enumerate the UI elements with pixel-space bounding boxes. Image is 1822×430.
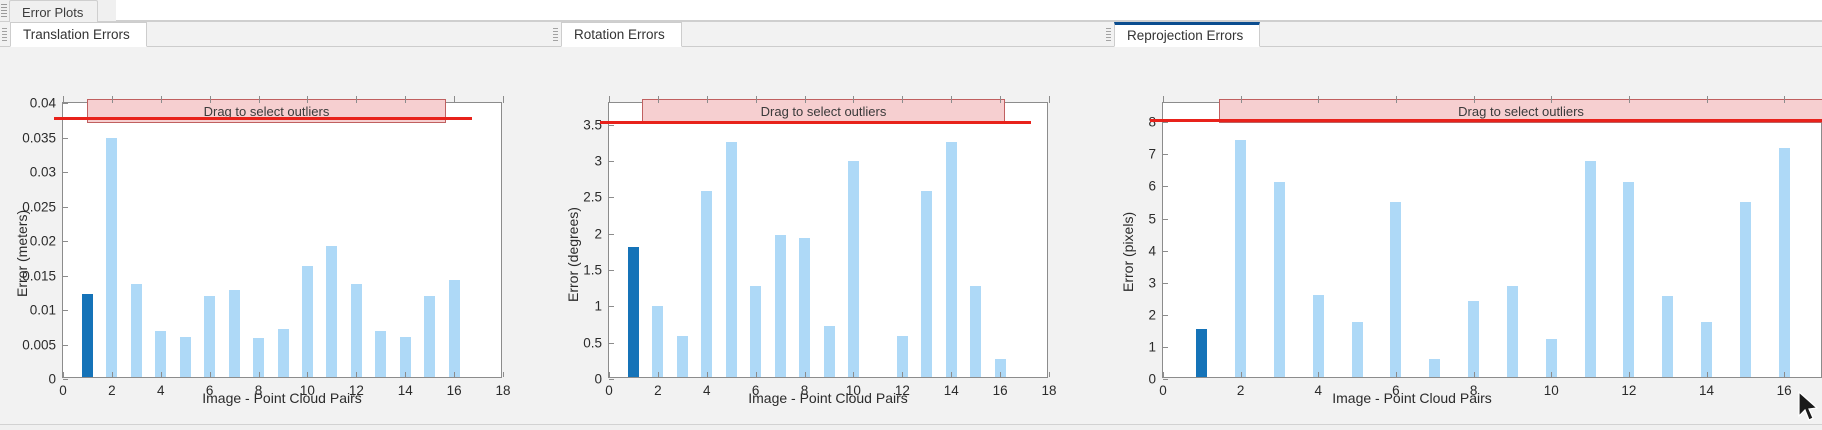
y-axis-tick-mark (1163, 283, 1168, 284)
y-axis-tick-label: 0.01 (30, 303, 56, 318)
bar[interactable] (1352, 322, 1363, 377)
bar[interactable] (400, 337, 411, 377)
y-axis-tick-label: 0.03 (30, 165, 56, 180)
x-axis-tick-mark (112, 372, 113, 377)
chart-reprojection-errors: Error (pixels) 0123456780246810121416Dra… (1104, 47, 1822, 430)
outlier-band-label: Drag to select outliers (1458, 104, 1584, 119)
bar[interactable] (1429, 359, 1440, 377)
y-axis-tick-label: 0.02 (30, 234, 56, 249)
x-axis-label-2: Image - Point Cloud Pairs (608, 390, 1048, 406)
bar[interactable] (652, 306, 663, 377)
y-axis-tick-mark (63, 310, 68, 311)
x-axis-tick-mark (1629, 372, 1630, 377)
bar[interactable] (1390, 202, 1401, 377)
bar[interactable] (970, 286, 981, 377)
panel-reprojection-errors: Reprojection Errors Error (pixels) 01234… (1104, 22, 1822, 430)
x-axis-tick-mark (503, 372, 504, 377)
band-tick-row (63, 96, 503, 103)
bar[interactable] (1779, 148, 1790, 377)
panel-rotation-errors: Rotation Errors Error (degrees) 00.511.5… (551, 22, 1104, 430)
outer-tab-error-plots[interactable]: Error Plots (9, 0, 98, 22)
y-axis-tick-label: 6 (1148, 179, 1156, 194)
chart-rotation-errors: Error (degrees) 00.511.522.533.502468101… (551, 47, 1104, 430)
y-axis-label-2: Error (degrees) (565, 207, 581, 302)
error-plots-window: Error Plots Translation Errors Error (me… (0, 0, 1822, 430)
x-axis-tick-mark (853, 372, 854, 377)
plot-axes-1[interactable]: 00.0050.010.0150.020.0250.030.0350.04024… (62, 102, 502, 378)
outlier-threshold-line[interactable] (54, 117, 472, 120)
x-axis-tick-mark (609, 372, 610, 377)
y-axis-tick-mark (63, 345, 68, 346)
x-axis-tick-mark (1318, 372, 1319, 377)
outer-tab-filler (116, 0, 1822, 21)
x-axis-tick-mark (1707, 372, 1708, 377)
y-axis-tick-mark (63, 241, 68, 242)
y-axis-tick-mark (1163, 251, 1168, 252)
x-axis-tick-mark (1396, 372, 1397, 377)
x-axis-tick-mark (658, 372, 659, 377)
y-axis-tick-mark (1163, 315, 1168, 316)
bar[interactable] (897, 336, 908, 377)
y-axis-tick-label: 0.025 (22, 199, 56, 214)
y-axis-tick-label: 2.5 (583, 190, 602, 205)
bar[interactable] (750, 286, 761, 377)
plot-area-2[interactable] (609, 103, 1047, 377)
y-axis-tick-label: 8 (1148, 115, 1156, 130)
x-axis-tick-mark (1474, 372, 1475, 377)
outlier-threshold-line[interactable] (600, 121, 1031, 124)
bar[interactable] (1740, 202, 1751, 377)
x-axis-tick-mark (405, 372, 406, 377)
panel-grip-icon-2[interactable] (553, 28, 558, 41)
bar[interactable] (155, 331, 166, 377)
bar[interactable] (1623, 182, 1634, 377)
x-axis-tick-mark (1784, 372, 1785, 377)
bar[interactable] (1468, 301, 1479, 377)
tab-reprojection-errors[interactable]: Reprojection Errors (1114, 22, 1260, 47)
tabrow-3: Reprojection Errors (1104, 22, 1822, 47)
bar[interactable] (449, 280, 460, 377)
panel-grip-icon-3[interactable] (1106, 28, 1111, 41)
bar[interactable] (204, 296, 215, 377)
outlier-band-label: Drag to select outliers (761, 104, 887, 119)
band-tick-row (1163, 96, 1822, 103)
bar[interactable] (131, 284, 142, 377)
bar[interactable] (106, 138, 117, 377)
panel-translation-errors: Translation Errors Error (meters) 00.005… (0, 22, 551, 430)
plot-axes-3[interactable]: 0123456780246810121416Drag to select out… (1162, 102, 1822, 378)
outer-tab-bar: Error Plots (0, 0, 1822, 22)
bar[interactable] (1274, 182, 1285, 377)
x-axis-tick-mark (756, 372, 757, 377)
y-axis-tick-mark (609, 161, 614, 162)
x-axis-tick-mark (805, 372, 806, 377)
bar[interactable] (946, 142, 957, 377)
bar[interactable] (375, 331, 386, 377)
y-axis-tick-label: 2 (594, 226, 602, 241)
plot-area-3[interactable] (1163, 103, 1821, 377)
x-axis-tick-mark (210, 372, 211, 377)
bar[interactable] (921, 191, 932, 377)
y-axis-tick-mark (609, 197, 614, 198)
bar[interactable] (229, 290, 240, 377)
tab-rotation-errors[interactable]: Rotation Errors (561, 22, 682, 47)
y-axis-tick-label: 3 (1148, 275, 1156, 290)
bar[interactable] (1585, 161, 1596, 377)
mouse-pointer-icon (1796, 390, 1822, 424)
bar[interactable] (1701, 322, 1712, 377)
bar[interactable] (1507, 286, 1518, 377)
y-axis-tick-mark (609, 234, 614, 235)
plot-axes-2[interactable]: 00.511.522.533.5024681012141618Drag to s… (608, 102, 1048, 378)
y-axis-tick-mark (609, 379, 614, 380)
y-axis-tick-label: 3 (594, 154, 602, 169)
y-axis-tick-mark (609, 125, 614, 126)
tabrow-1: Translation Errors (0, 22, 551, 47)
y-axis-tick-label: 1 (594, 299, 602, 314)
bar[interactable] (824, 326, 835, 377)
x-axis-tick-mark (356, 372, 357, 377)
bar[interactable] (1313, 295, 1324, 377)
x-axis-tick-mark (259, 372, 260, 377)
x-axis-tick-mark (161, 372, 162, 377)
y-axis-tick-mark (63, 138, 68, 139)
y-axis-tick-label: 5 (1148, 211, 1156, 226)
y-axis-tick-mark (609, 306, 614, 307)
x-axis-tick-mark (1163, 372, 1164, 377)
y-axis-tick-label: 0 (1148, 372, 1156, 387)
y-axis-tick-mark (1163, 219, 1168, 220)
y-axis-tick-mark (1163, 154, 1168, 155)
bar[interactable] (278, 329, 289, 377)
y-axis-tick-mark (1163, 122, 1168, 123)
x-axis-tick-mark (63, 372, 64, 377)
x-axis-tick-mark (951, 372, 952, 377)
bar[interactable] (1235, 140, 1246, 377)
y-axis-tick-mark (63, 103, 68, 104)
x-axis-label-3: Image - Point Cloud Pairs (1162, 390, 1662, 406)
y-axis-tick-mark (1163, 186, 1168, 187)
panels-container: Translation Errors Error (meters) 00.005… (0, 22, 1822, 430)
y-axis-tick-label: 0.015 (22, 268, 56, 283)
bar[interactable] (726, 142, 737, 377)
tabrow-2: Rotation Errors (551, 22, 1104, 47)
y-axis-tick-mark (63, 207, 68, 208)
x-axis-tick-mark (1000, 372, 1001, 377)
y-axis-tick-mark (1163, 379, 1168, 380)
y-axis-tick-label: 4 (1148, 243, 1156, 258)
y-axis-tick-mark (63, 379, 68, 380)
y-axis-tick-label: 0.04 (30, 96, 56, 111)
bar[interactable] (351, 284, 362, 377)
bar[interactable] (701, 191, 712, 377)
y-axis-tick-mark (609, 270, 614, 271)
y-axis-tick-label: 0.5 (583, 335, 602, 350)
bar[interactable] (677, 336, 688, 377)
y-axis-tick-label: 0 (594, 372, 602, 387)
y-axis-tick-mark (1163, 347, 1168, 348)
y-axis-label-3: Error (pixels) (1120, 212, 1136, 292)
bar[interactable] (302, 266, 313, 377)
bar[interactable] (424, 296, 435, 377)
y-axis-tick-label: 0 (48, 372, 56, 387)
x-axis-tick-mark (454, 372, 455, 377)
y-axis-tick-mark (63, 276, 68, 277)
y-axis-tick-label: 1 (1148, 339, 1156, 354)
y-axis-tick-label: 0.035 (22, 130, 56, 145)
x-axis-tick-mark (902, 372, 903, 377)
plot-area-1[interactable] (63, 103, 501, 377)
x-axis-tick-label: 16 (1777, 383, 1792, 398)
x-axis-label-1: Image - Point Cloud Pairs (62, 390, 502, 406)
bar[interactable] (628, 247, 639, 377)
x-axis-tick-label: 14 (1699, 383, 1714, 398)
y-axis-tick-label: 3.5 (583, 117, 602, 132)
y-axis-tick-label: 2 (1148, 307, 1156, 322)
y-axis-tick-label: 7 (1148, 147, 1156, 162)
bar[interactable] (82, 294, 93, 377)
x-axis-tick-mark (1049, 372, 1050, 377)
y-axis-tick-label: 0.005 (22, 337, 56, 352)
x-axis-tick-mark (1241, 372, 1242, 377)
bar[interactable] (326, 246, 337, 377)
panel-grip-icon-1[interactable] (2, 28, 7, 41)
bar[interactable] (1196, 329, 1207, 377)
bottom-strip (0, 424, 1822, 430)
bar[interactable] (775, 235, 786, 377)
bar[interactable] (848, 161, 859, 377)
chart-translation-errors: Error (meters) 00.0050.010.0150.020.0250… (0, 47, 551, 430)
y-axis-tick-mark (609, 343, 614, 344)
y-axis-tick-mark (63, 172, 68, 173)
band-tick-row (609, 96, 1049, 103)
drag-grip-icon[interactable] (1, 4, 7, 18)
x-axis-tick-mark (1551, 372, 1552, 377)
bar[interactable] (1662, 296, 1673, 377)
bar[interactable] (180, 337, 191, 377)
x-axis-tick-mark (707, 372, 708, 377)
y-axis-tick-label: 1.5 (583, 263, 602, 278)
bar[interactable] (799, 238, 810, 377)
x-axis-tick-mark (307, 372, 308, 377)
y-axis-label-1: Error (meters) (14, 210, 30, 297)
tab-translation-errors[interactable]: Translation Errors (10, 22, 147, 47)
outlier-threshold-line[interactable] (1150, 119, 1822, 122)
